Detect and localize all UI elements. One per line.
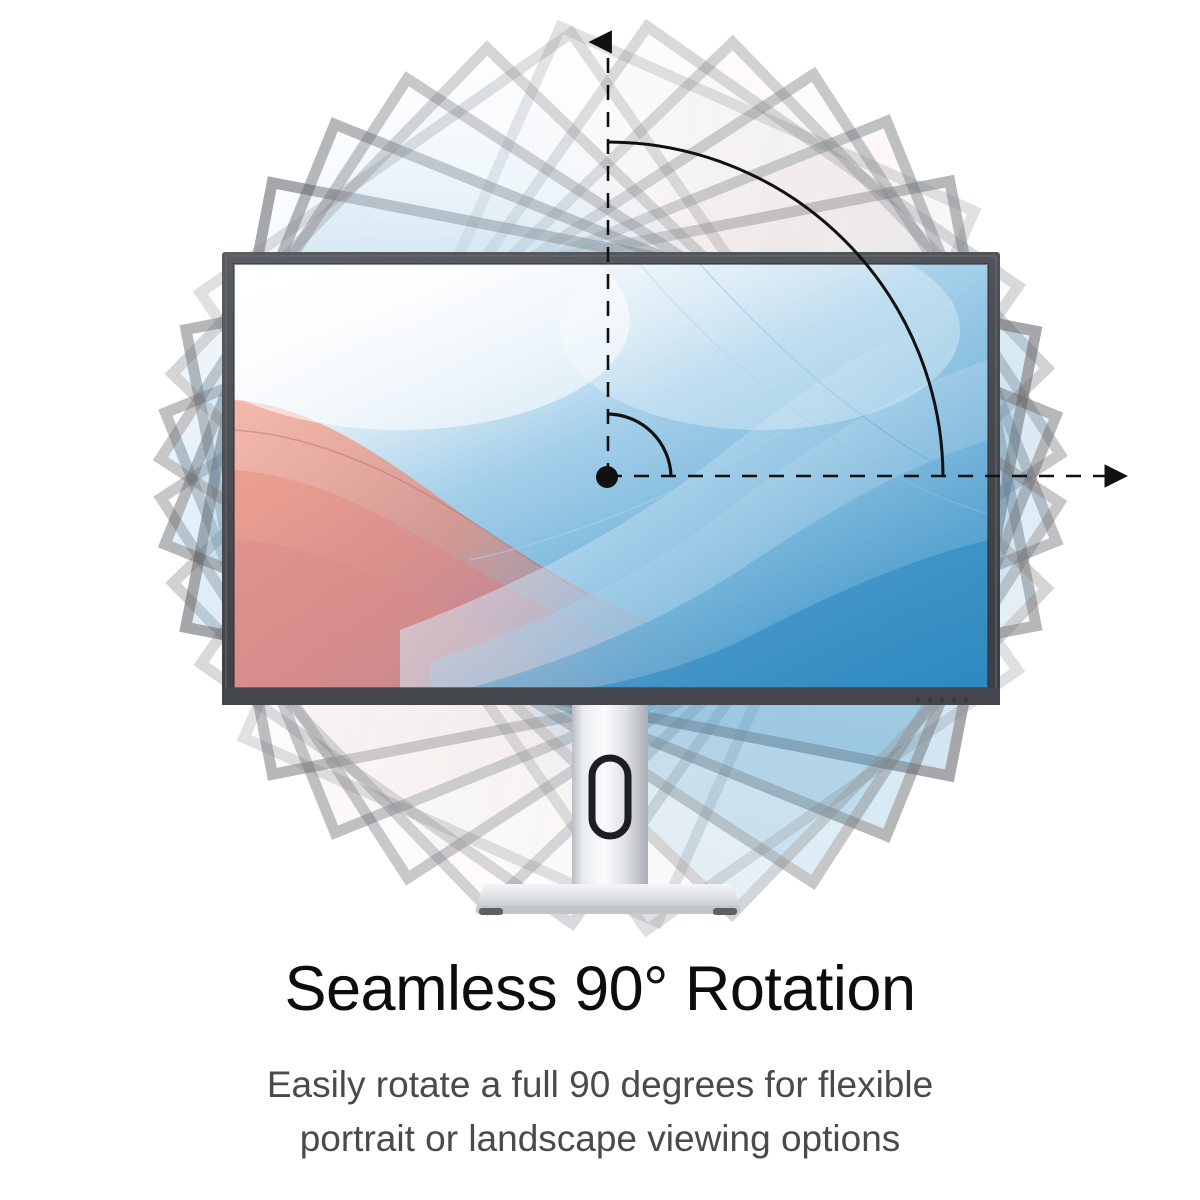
rotation-arc [608, 142, 943, 476]
angle-marker-arc [608, 414, 671, 476]
page-subtitle: Easily rotate a full 90 degrees for flex… [0, 1058, 1200, 1165]
page-title: Seamless 90° Rotation [0, 956, 1200, 1022]
page-subtitle-line-2: portrait or landscape viewing options [0, 1112, 1200, 1166]
rotation-feature-graphic: Seamless 90° Rotation Easily rotate a fu… [0, 0, 1200, 1200]
page-subtitle-line-1: Easily rotate a full 90 degrees for flex… [0, 1058, 1200, 1112]
pivot-point [596, 466, 618, 488]
